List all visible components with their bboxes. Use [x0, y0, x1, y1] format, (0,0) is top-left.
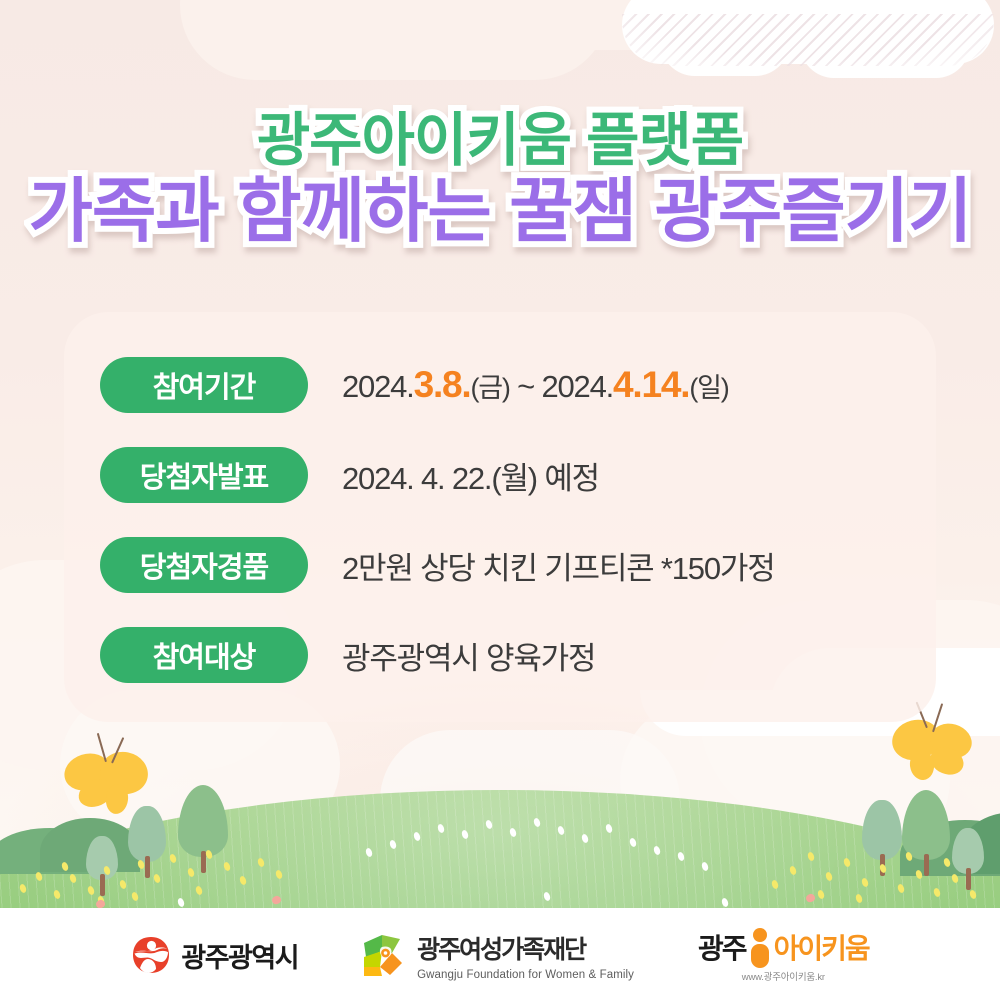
info-row-value: 2만원 상당 치킨 기프티콘 *150가정 [342, 543, 775, 588]
info-row-label-pill: 당첨자발표 [100, 447, 308, 503]
info-row-value: 2024.3.8.(금) ~ 2024.4.14.(일) [342, 364, 729, 406]
info-row-value-segment: (금) [471, 373, 510, 403]
foundation-flower-icon [362, 933, 408, 977]
info-row-value-segment: 광주광역시 양육가정 [342, 641, 595, 676]
info-row-label-pill: 참여대상 [100, 627, 308, 683]
info-row-value-segment: 2024. [541, 369, 613, 404]
info-row-value: 2024. 4. 22.(월) 예정 [342, 453, 599, 498]
info-card: 참여기간2024.3.8.(금) ~ 2024.4.14.(일)당첨자발표202… [64, 312, 936, 722]
logo-ikium-url: www.광주아이키움.kr [742, 969, 825, 983]
tree-icon [178, 785, 228, 857]
info-row: 참여기간2024.3.8.(금) ~ 2024.4.14.(일) [100, 354, 900, 416]
info-row: 당첨자발표2024. 4. 22.(월) 예정 [100, 444, 900, 506]
logo-ikium-suffix: 아이키움 [774, 927, 869, 967]
poster-root: 광주아이키움 플랫폼 가족과 함께하는 꿀잼 광주즐기기 참여기간2024.3.… [0, 0, 1000, 1000]
logo-foundation-label: 광주여성가족재단 [417, 930, 634, 966]
title-block: 광주아이키움 플랫폼 가족과 함께하는 꿀잼 광주즐기기 [0, 112, 1000, 246]
info-row: 참여대상광주광역시 양육가정 [100, 624, 900, 686]
logo-gwangju-city: 광주광역시 [131, 935, 298, 975]
logo-gwangju-foundation: 광주여성가족재단 Gwangju Foundation for Women & … [362, 930, 634, 981]
tree-icon [862, 800, 902, 860]
tree-icon [86, 836, 118, 880]
logo-gwangju-ikium: 광주 아이키움 www.광주아이키움.kr [698, 927, 869, 983]
info-row-value-segment: 2024. [342, 369, 414, 404]
butterfly-icon [62, 736, 150, 816]
info-row-value-segment: ~ [510, 369, 542, 404]
page-title-line2: 가족과 함께하는 꿀잼 광주즐기기 [0, 176, 1000, 246]
info-row: 당첨자경품2만원 상당 치킨 기프티콘 *150가정 [100, 534, 900, 596]
tree-icon [952, 828, 984, 874]
info-row-value-segment: 2024. 4. 22.(월) 예정 [342, 461, 599, 496]
ikium-person-icon [749, 928, 771, 966]
info-row-value: 광주광역시 양육가정 [342, 633, 595, 678]
logo-ikium-prefix: 광주 [698, 927, 746, 967]
info-row-value-segment: 4.14. [613, 364, 689, 405]
page-title-line1: 광주아이키움 플랫폼 [0, 112, 1000, 170]
info-row-value-segment: (일) [689, 373, 728, 403]
halftone-dot-pattern [622, 14, 994, 66]
footer-logo-row: 광주광역시 광주여성가족재단 Gwangju Foundation for Wo… [0, 925, 1000, 985]
tree-icon [902, 790, 950, 860]
gwangju-city-emblem-icon [131, 935, 171, 975]
info-row-label-pill: 당첨자경품 [100, 537, 308, 593]
info-row-list: 참여기간2024.3.8.(금) ~ 2024.4.14.(일)당첨자발표202… [100, 354, 900, 686]
logo-foundation-subtitle: Gwangju Foundation for Women & Family [417, 969, 634, 981]
info-row-value-segment: 3.8. [414, 364, 471, 405]
logo-gwangju-city-label: 광주광역시 [181, 936, 298, 975]
info-row-label-pill: 참여기간 [100, 357, 308, 413]
info-row-value-segment: 2만원 상당 치킨 기프티콘 *150가정 [342, 551, 775, 586]
